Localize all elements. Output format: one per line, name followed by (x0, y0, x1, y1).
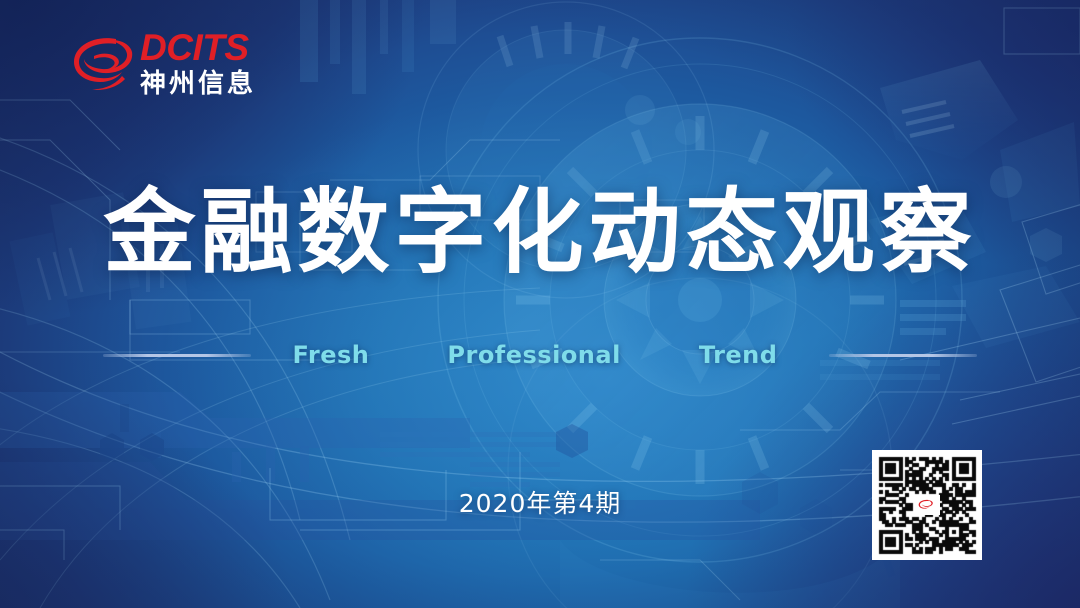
tagline-word-fresh: Fresh (293, 341, 370, 369)
tagline-row: Fresh Professional Trend (0, 336, 1080, 374)
logo-wordmark: DCITS 神州信息 (140, 28, 292, 100)
qr-code[interactable] (872, 450, 982, 560)
qr-center-logo (914, 495, 940, 515)
dcits-logo: DCITS 神州信息 (72, 28, 292, 106)
dcits-swirl-icon (72, 32, 140, 98)
tagline-rule-left (103, 354, 251, 357)
tagline-word-professional: Professional (447, 341, 620, 369)
poster-canvas: DCITS 神州信息 金融数字化动态观察 Fresh Professional … (0, 0, 1080, 608)
logo-english-text: DCITS (140, 28, 292, 68)
poster-title: 金融数字化动态观察 (0, 178, 1080, 288)
tagline-rule-right (829, 354, 977, 357)
tagline-word-trend: Trend (699, 341, 778, 369)
qr-center-swirl-icon (918, 499, 936, 511)
logo-chinese-text: 神州信息 (140, 68, 292, 100)
